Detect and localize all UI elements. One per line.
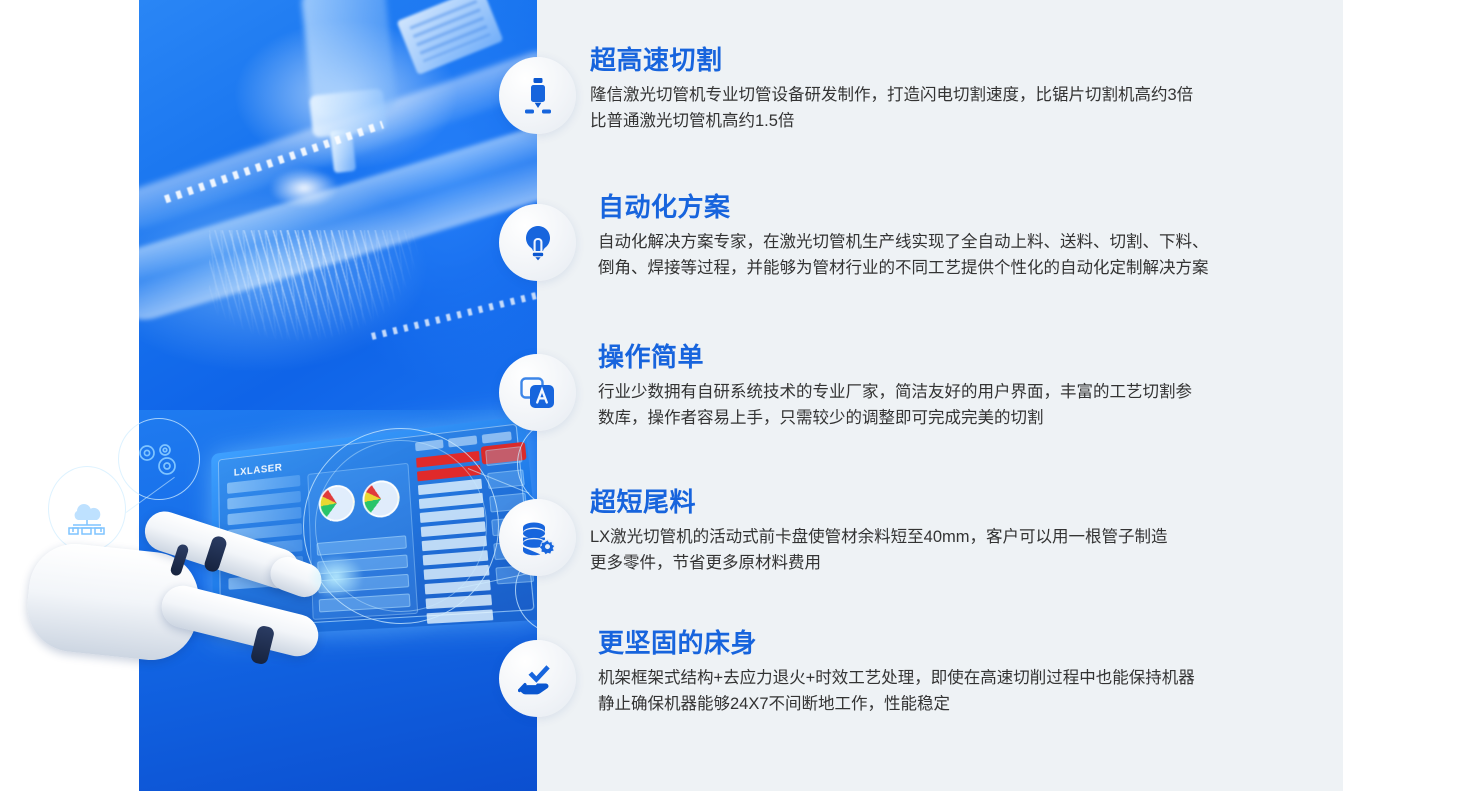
desc-line: 机架框架式结构+去应力退火+时效工艺处理，即使在高速切削过程中也能保持机器 bbox=[598, 665, 1195, 692]
app-card-a-icon bbox=[499, 354, 576, 431]
feature-text: 自动化方案 自动化解决方案专家，在激光切管机生产线实现了全自动上料、送料、切割、… bbox=[598, 192, 1209, 282]
feature-item-3[interactable]: 操作简单 行业少数拥有自研系统技术的专业厂家，简洁友好的用户界面，丰富的工艺切割… bbox=[499, 342, 1319, 432]
gears-icon bbox=[134, 440, 184, 480]
desc-line: 静止确保机器能够24X7不间断地工作，性能稳定 bbox=[598, 691, 1195, 718]
feature-title: 更坚固的床身 bbox=[598, 628, 1195, 659]
robot-hand bbox=[22, 508, 352, 698]
feature-item-2[interactable]: 自动化方案 自动化解决方案专家，在激光切管机生产线实现了全自动上料、送料、切割、… bbox=[499, 192, 1319, 282]
feature-highlight-page: LXLASER bbox=[0, 0, 1480, 791]
feature-description: 行业少数拥有自研系统技术的专业厂家，简洁友好的用户界面，丰富的工艺切割参 数库，… bbox=[598, 379, 1192, 432]
feature-description: LX激光切管机的活动式前卡盘使管材余料短至40mm，客户可以用一根管子制造 更多… bbox=[590, 524, 1168, 577]
desc-line: 数库，操作者容易上手，只需较少的调整即可完成完美的切割 bbox=[598, 405, 1192, 432]
desc-line: 行业少数拥有自研系统技术的专业厂家，简洁友好的用户界面，丰富的工艺切割参 bbox=[598, 379, 1192, 406]
feature-text: 超短尾料 LX激光切管机的活动式前卡盘使管材余料短至40mm，客户可以用一根管子… bbox=[590, 487, 1168, 577]
feature-description: 机架框架式结构+去应力退火+时效工艺处理，即使在高速切削过程中也能保持机器 静止… bbox=[598, 665, 1195, 718]
feature-description: 自动化解决方案专家，在激光切管机生产线实现了全自动上料、送料、切割、下料、 倒角… bbox=[598, 229, 1209, 282]
feature-title: 超高速切割 bbox=[590, 45, 1193, 76]
desc-line: 自动化解决方案专家，在激光切管机生产线实现了全自动上料、送料、切割、下料、 bbox=[598, 229, 1209, 256]
laser-cutting-head-icon bbox=[499, 57, 576, 134]
feature-item-4[interactable]: 超短尾料 LX激光切管机的活动式前卡盘使管材余料短至40mm，客户可以用一根管子… bbox=[499, 487, 1319, 577]
feature-title: 超短尾料 bbox=[590, 487, 1168, 518]
desc-line: 倒角、焊接等过程，并能够为管材行业的不同工艺提供个性化的自动化定制解决方案 bbox=[598, 255, 1209, 282]
touch-glow bbox=[308, 554, 364, 600]
feature-item-5[interactable]: 更坚固的床身 机架框架式结构+去应力退火+时效工艺处理，即使在高速切削过程中也能… bbox=[499, 628, 1319, 718]
feature-text: 操作简单 行业少数拥有自研系统技术的专业厂家，简洁友好的用户界面，丰富的工艺切割… bbox=[598, 342, 1192, 432]
feature-title: 自动化方案 bbox=[598, 192, 1209, 223]
desc-line: 比普通激光切管机高约1.5倍 bbox=[590, 108, 1193, 135]
desc-line: 隆信激光切管机专业切管设备研发制作，打造闪电切割速度，比锯片切割机高约3倍 bbox=[590, 82, 1193, 109]
feature-item-1[interactable]: 超高速切割 隆信激光切管机专业切管设备研发制作，打造闪电切割速度，比锯片切割机高… bbox=[499, 45, 1319, 135]
desc-line: 更多零件，节省更多原材料费用 bbox=[590, 550, 1168, 577]
desc-line: LX激光切管机的活动式前卡盘使管材余料短至40mm，客户可以用一根管子制造 bbox=[590, 524, 1168, 551]
feature-text: 超高速切割 隆信激光切管机专业切管设备研发制作，打造闪电切割速度，比锯片切割机高… bbox=[590, 45, 1193, 135]
hand-check-icon bbox=[499, 640, 576, 717]
feature-description: 隆信激光切管机专业切管设备研发制作，打造闪电切割速度，比锯片切割机高约3倍 比普… bbox=[590, 82, 1193, 135]
lightbulb-icon bbox=[499, 204, 576, 281]
feature-title: 操作简单 bbox=[598, 342, 1192, 373]
feature-list: 超高速切割 隆信激光切管机专业切管设备研发制作，打造闪电切割速度，比锯片切割机高… bbox=[0, 0, 1480, 791]
feature-text: 更坚固的床身 机架框架式结构+去应力退火+时效工艺处理，即使在高速切削过程中也能… bbox=[598, 628, 1195, 718]
database-gear-icon bbox=[499, 499, 576, 576]
